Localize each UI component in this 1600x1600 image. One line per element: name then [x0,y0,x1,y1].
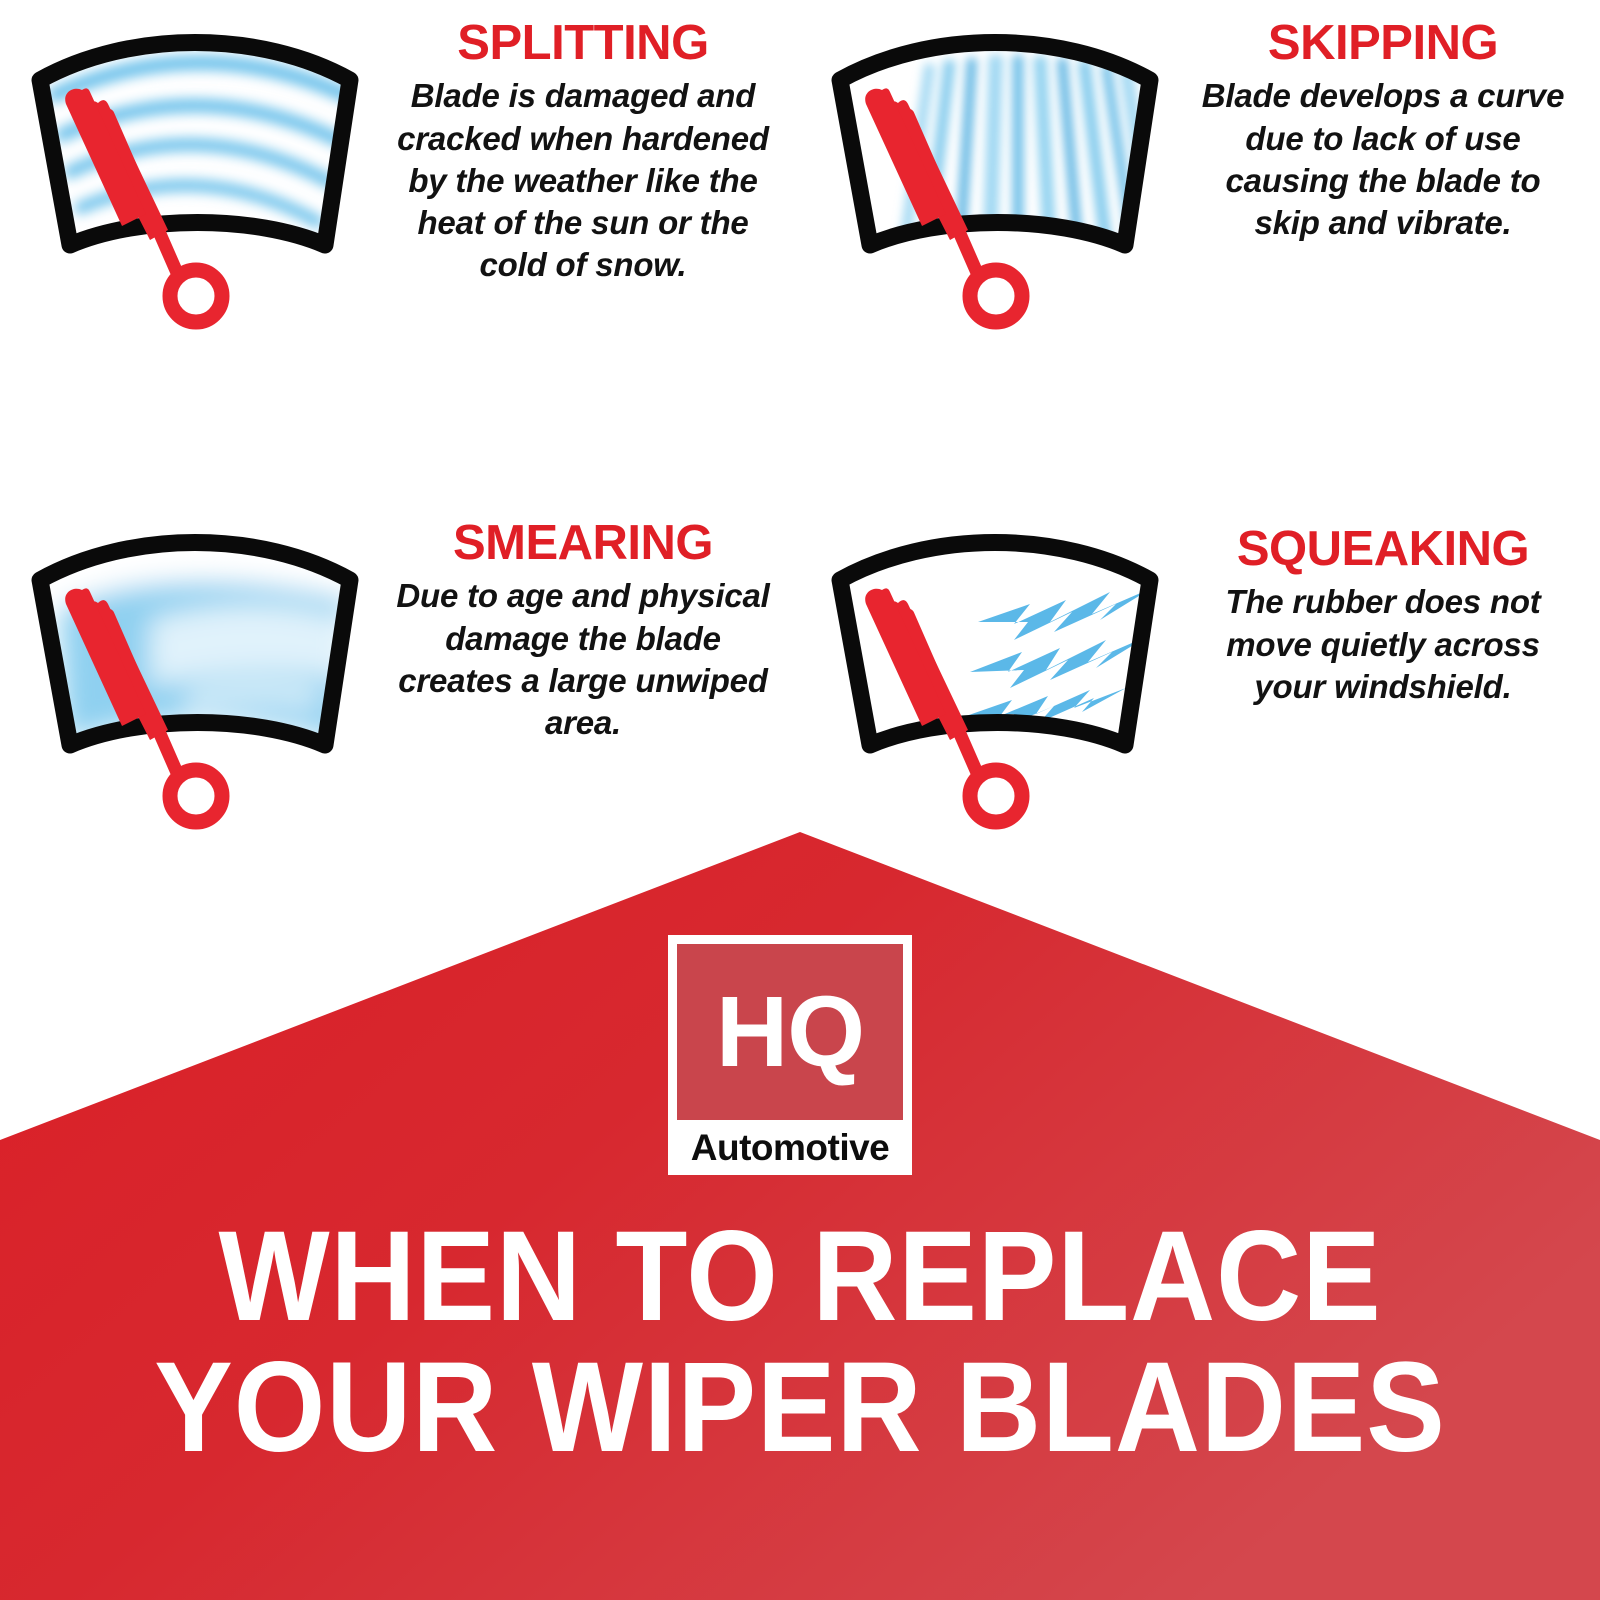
panel-title: SMEARING [390,518,776,569]
windshield-wiper-icon-skipping [800,0,1190,330]
logo-mark-text: HQ [716,982,864,1082]
windshield-wiper-icon-smearing [0,500,390,830]
logo-subtitle-text: Automotive [691,1129,890,1166]
panel-title: SQUEAKING [1190,524,1576,575]
panel-title: SPLITTING [390,18,776,69]
symptom-panel-grid: SPLITTING Blade is damaged and cracked w… [0,0,1600,860]
panel-description: Blade develops a curve due to lack of us… [1190,75,1576,244]
symptom-panel-splitting: SPLITTING Blade is damaged and cracked w… [0,0,800,430]
headline-line-2: YOUR WIPER BLADES [64,1343,1536,1474]
symptom-panel-squeaking: SQUEAKING The rubber does not move quiet… [800,500,1600,930]
headline: WHEN TO REPLACE YOUR WIPER BLADES [0,1212,1600,1473]
logo-mark-box: HQ [677,944,903,1120]
windshield-wiper-icon-splitting [0,0,390,330]
symptom-panel-skipping: SKIPPING Blade develops a curve due to l… [800,0,1600,430]
windshield-wiper-icon-squeaking [800,500,1190,830]
panel-title: SKIPPING [1190,18,1576,69]
panel-description: The rubber does not move quietly across … [1190,581,1576,708]
logo-subtitle-box: Automotive [677,1120,903,1175]
panel-description: Blade is damaged and cracked when harden… [390,75,776,286]
panel-description: Due to age and physical damage the blade… [390,575,776,744]
headline-line-1: WHEN TO REPLACE [64,1212,1536,1343]
hq-automotive-logo: HQ Automotive [668,935,912,1175]
symptom-panel-smearing: SMEARING Due to age and physical damage … [0,500,800,930]
